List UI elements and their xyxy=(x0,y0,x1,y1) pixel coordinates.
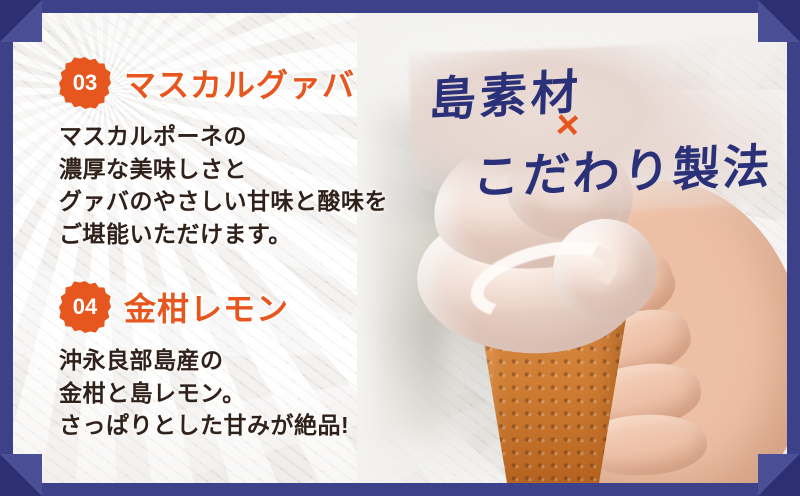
flavor-number-badge-03: 03 xyxy=(59,57,111,109)
description-line: さっぱりとした甘みが絶品! xyxy=(59,409,349,442)
description-line: マスカルポーネの xyxy=(59,120,388,153)
promo-banner: 島素材 × こだわり製法 03 マスカルグァバ マスカルポーネの 濃厚な美味しさ… xyxy=(0,0,800,496)
flavor-description-03: マスカルポーネの 濃厚な美味しさと グァバのやさしい甘味と酸味を ご堪能いただけ… xyxy=(59,120,388,251)
flavor-title-04: 金柑レモン xyxy=(124,284,289,330)
description-line: 濃厚な美味しさと xyxy=(59,153,388,186)
flavor-number-badge-04: 04 xyxy=(59,281,111,333)
flavor-block-04: 04 金柑レモン 沖永良部島産の 金柑と島レモン。 さっぱりとした甘みが絶品! xyxy=(59,281,349,442)
handwritten-headline: 島素材 × こだわり製法 xyxy=(411,41,787,221)
description-line: グァバのやさしい甘味と酸味を xyxy=(59,185,388,218)
flavor-block-03: 03 マスカルグァバ マスカルポーネの 濃厚な美味しさと グァバのやさしい甘味と… xyxy=(59,57,388,251)
description-line: ご堪能いただけます。 xyxy=(59,218,388,251)
headline-line-2: こだわり製法 xyxy=(471,127,774,208)
content-panel: 島素材 × こだわり製法 03 マスカルグァバ マスカルポーネの 濃厚な美味しさ… xyxy=(13,13,787,483)
flavor-title-03: マスカルグァバ xyxy=(124,60,355,106)
description-line: 金柑と島レモン。 xyxy=(59,377,349,410)
flavor-header-04: 04 金柑レモン xyxy=(59,281,349,333)
flavor-header-03: 03 マスカルグァバ xyxy=(59,57,388,109)
flavor-description-04: 沖永良部島産の 金柑と島レモン。 さっぱりとした甘みが絶品! xyxy=(59,344,349,442)
description-line: 沖永良部島産の xyxy=(59,344,349,377)
